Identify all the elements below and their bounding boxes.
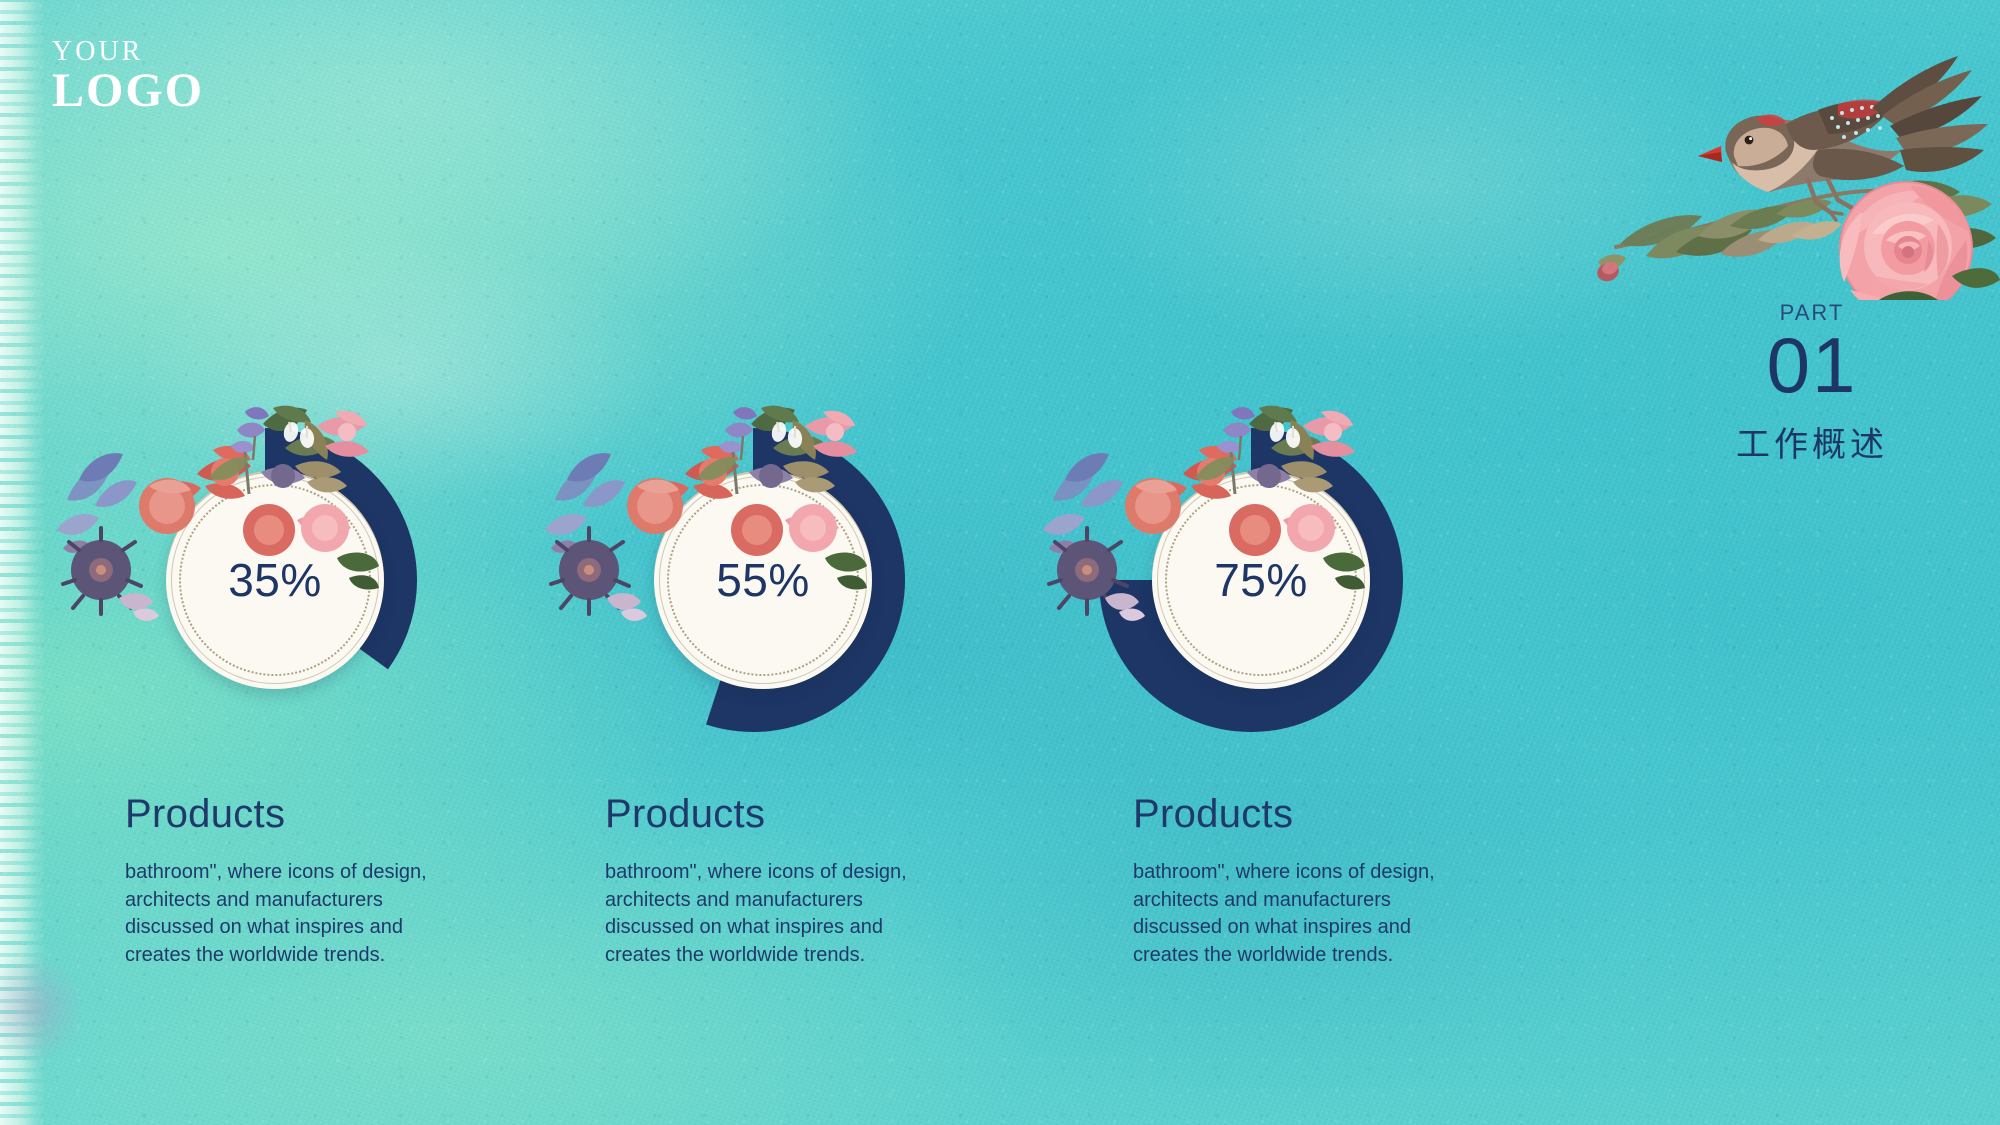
column-2: 55% xyxy=(605,420,1085,969)
donut-percent-2: 55% xyxy=(654,553,872,607)
logo-line-1: YOUR xyxy=(52,38,204,66)
paper-lilac-stain xyxy=(0,937,120,1067)
slide-canvas: YOUR LOGO xyxy=(0,0,2000,1125)
column-3: 75% xyxy=(1133,420,1613,969)
column-body-2: bathroom", where icons of design, archit… xyxy=(605,859,935,969)
donut-percent-3: 75% xyxy=(1152,553,1370,607)
bird-on-rose-branch-icon xyxy=(1580,0,2000,300)
donut-percent-1: 35% xyxy=(166,553,384,607)
donut-chart-3: 75% xyxy=(1091,420,1431,740)
part-number: 01 xyxy=(1662,328,1962,403)
column-1: 35% xyxy=(125,420,605,969)
column-body-1: bathroom", where icons of design, archit… xyxy=(125,859,455,969)
column-heading-3: Products xyxy=(1133,792,1613,837)
donut-center-disc-1: 35% xyxy=(166,471,384,689)
donut-chart-2: 55% xyxy=(593,420,933,740)
part-title: 工作概述 xyxy=(1662,417,1962,466)
column-heading-1: Products xyxy=(125,792,605,837)
column-body-3: bathroom", where icons of design, archit… xyxy=(1133,859,1463,969)
part-block: PART 01 工作概述 xyxy=(1662,300,1962,466)
donut-chart-1: 35% xyxy=(105,420,445,740)
column-heading-2: Products xyxy=(605,792,1085,837)
logo-line-2: LOGO xyxy=(52,67,204,115)
logo[interactable]: YOUR LOGO xyxy=(52,38,204,115)
donut-center-disc-3: 75% xyxy=(1152,471,1370,689)
donut-center-disc-2: 55% xyxy=(654,471,872,689)
